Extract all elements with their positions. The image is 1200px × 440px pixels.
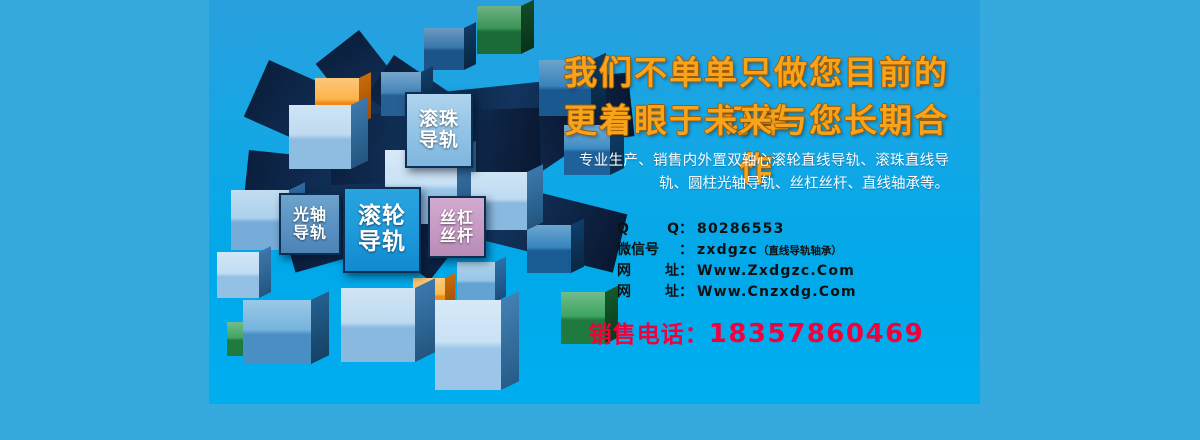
tile-line2: 导轨: [419, 130, 459, 151]
promo-banner: 滚珠 导轨 光轴 导轨 滚轮 导轨 丝杠 丝杆 我们不单单只做您目前的订单 更着…: [209, 0, 980, 404]
product-tile-sigang-sigan[interactable]: 丝杠 丝杆: [428, 196, 486, 258]
tile-line2: 导轨: [358, 230, 406, 256]
sales-phone-label: 销售电话：: [589, 322, 709, 348]
contact-row-website-1: 网 址 ： Www.Zxdgzc.Com: [617, 260, 857, 281]
tile-line1: 光轴: [293, 206, 327, 224]
product-tile-gunlun-daogui[interactable]: 滚轮 导轨: [343, 187, 421, 273]
contact-row-wechat: 微信号 ： zxdgzc （直线导轨轴承）: [617, 239, 857, 260]
contact-label: 网 址: [617, 260, 679, 280]
contact-label: 网 址: [617, 281, 679, 301]
tile-line2: 导轨: [293, 224, 327, 242]
tile-line1: 滚珠: [419, 109, 459, 130]
contact-separator: ：: [679, 218, 693, 238]
description-text: 专业生产、销售内外置双轴心滚轮直线导轨、滚珠直线导轨、圆柱光轴导轨、丝杠丝杆、直…: [579, 150, 949, 197]
contact-separator: ：: [679, 260, 693, 280]
sales-phone-block: 销售电话：18357860469: [549, 315, 964, 349]
contact-row-qq: Q Q ： 80286553: [617, 218, 857, 239]
copy-column: 我们不单单只做您目前的订单 更着眼于未来与您长期合作 专业生产、销售内外置双轴心…: [549, 0, 980, 404]
contact-value-website-1[interactable]: Www.Zxdgzc.Com: [697, 263, 855, 279]
contact-separator: ：: [679, 281, 693, 301]
contact-row-website-2: 网 址 ： Www.Cnzxdg.Com: [617, 281, 857, 302]
contact-note-wechat: （直线导轨轴承）: [758, 243, 842, 258]
tile-line1: 滚轮: [358, 204, 406, 230]
banner-page: 滚珠 导轨 光轴 导轨 滚轮 导轨 丝杠 丝杆 我们不单单只做您目前的订单 更着…: [0, 0, 1200, 440]
contact-block: Q Q ： 80286553 微信号 ： zxdgzc （直线导轨轴承）: [617, 218, 857, 302]
product-tile-guangzhou-daogui[interactable]: 光轴 导轨: [279, 193, 341, 255]
contact-value-website-2[interactable]: Www.Cnzxdg.Com: [697, 284, 857, 300]
contact-value-wechat[interactable]: zxdgzc: [697, 242, 758, 258]
contact-label: 微信号: [617, 239, 679, 259]
contact-separator: ：: [679, 239, 693, 259]
tile-line2: 丝杆: [440, 227, 474, 245]
tile-line1: 丝杠: [440, 209, 474, 227]
product-tile-gunzhu-daogui[interactable]: 滚珠 导轨: [405, 92, 473, 168]
sales-phone-number[interactable]: 18357860469: [709, 319, 925, 349]
contact-value-qq[interactable]: 80286553: [697, 221, 785, 237]
contact-label: Q Q: [617, 221, 679, 237]
